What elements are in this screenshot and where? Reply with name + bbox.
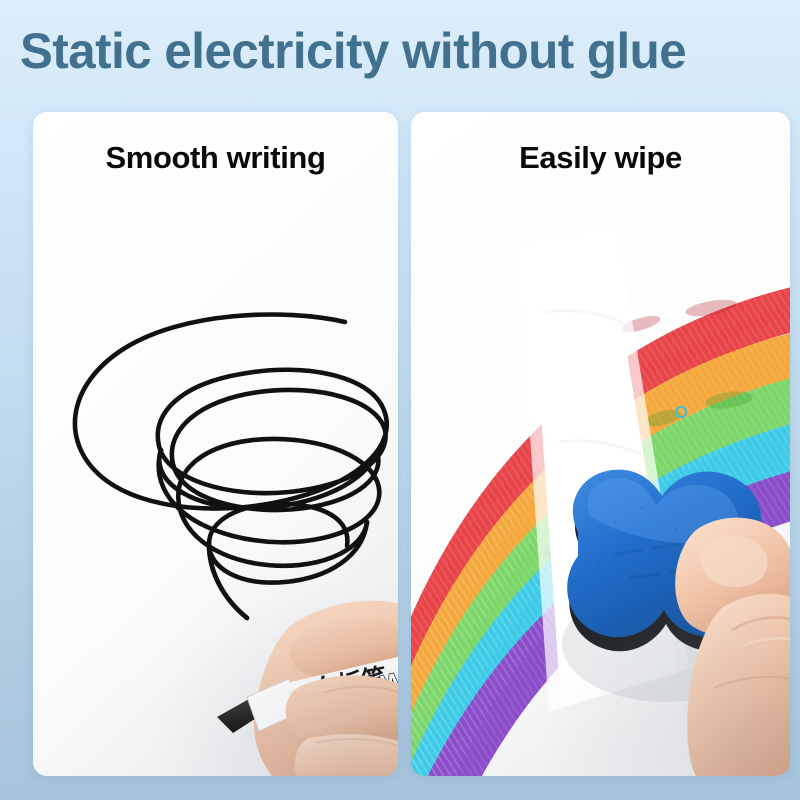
panel-heading-easily-wipe: Easily wipe [411,140,790,176]
page-title: Static electricity without glue [20,14,773,88]
hand-holding-marker: 白板笔 W olor | Eas [203,567,398,776]
panel-easily-wipe: Easily wipe [411,112,790,776]
hand-holding-eraser [546,412,790,776]
panel-smooth-writing: Smooth writing [33,112,398,776]
promo-image-root: Static electricity without glue Smooth w… [0,0,800,800]
panel-heading-smooth-writing: Smooth writing [33,140,398,176]
header-banner: Static electricity without glue [0,0,800,108]
